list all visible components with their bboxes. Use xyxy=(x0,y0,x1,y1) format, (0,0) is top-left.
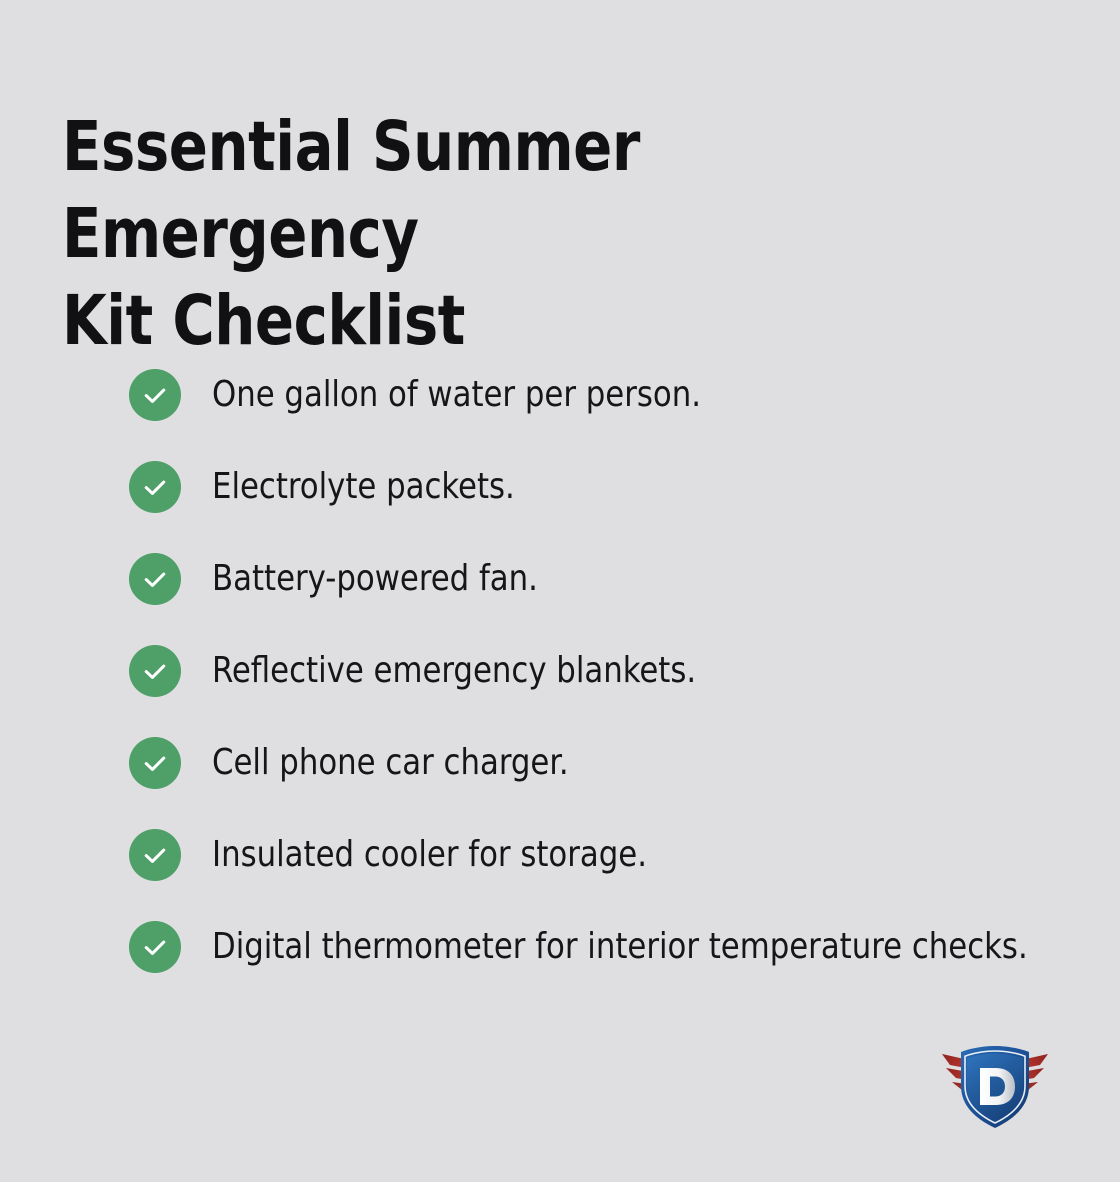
list-item-label: Reflective emergency blankets. xyxy=(212,651,696,691)
list-item[interactable]: Digital thermometer for interior tempera… xyxy=(129,921,1049,973)
list-item-label: Battery-powered fan. xyxy=(212,559,538,599)
poster-canvas: Essential Summer Emergency Kit Checklist… xyxy=(0,0,1120,1182)
list-item-label: Electrolyte packets. xyxy=(212,467,515,507)
check-circle-icon xyxy=(129,921,181,973)
list-item-label: Cell phone car charger. xyxy=(212,743,569,783)
checklist: One gallon of water per person. Electrol… xyxy=(129,369,1049,973)
check-circle-icon xyxy=(129,369,181,421)
list-item[interactable]: Battery-powered fan. xyxy=(129,553,1049,605)
list-item-label: Digital thermometer for interior tempera… xyxy=(212,927,1028,967)
list-item-label: One gallon of water per person. xyxy=(212,375,701,415)
check-circle-icon xyxy=(129,461,181,513)
list-item[interactable]: Reflective emergency blankets. xyxy=(129,645,1049,697)
check-circle-icon xyxy=(129,553,181,605)
winged-shield-d-logo xyxy=(940,1040,1050,1132)
check-circle-icon xyxy=(129,737,181,789)
check-circle-icon xyxy=(129,829,181,881)
list-item[interactable]: One gallon of water per person. xyxy=(129,369,1049,421)
list-item[interactable]: Electrolyte packets. xyxy=(129,461,1049,513)
list-item[interactable]: Cell phone car charger. xyxy=(129,737,1049,789)
check-circle-icon xyxy=(129,645,181,697)
list-item-label: Insulated cooler for storage. xyxy=(212,835,647,875)
list-item[interactable]: Insulated cooler for storage. xyxy=(129,829,1049,881)
page-title-block: Essential Summer Emergency Kit Checklist xyxy=(62,104,1042,365)
page-title: Essential Summer Emergency Kit Checklist xyxy=(62,104,973,365)
